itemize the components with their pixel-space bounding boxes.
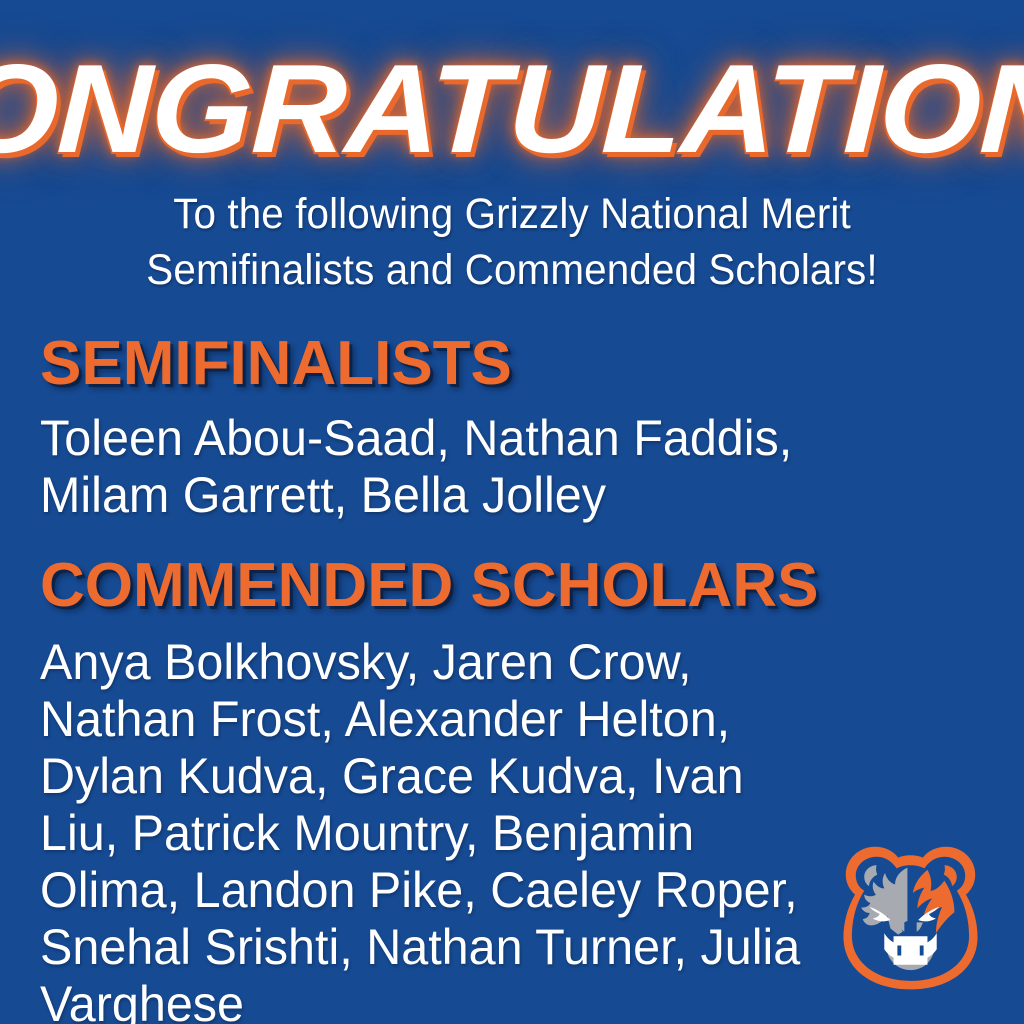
name-list-semifinalists: Toleen Abou-Saad, Nathan Faddis, Milam G… [40, 410, 894, 524]
subtitle-line-2: Semifinalists and Commended Scholars! [89, 242, 935, 298]
section-heading-semifinalists: SEMIFINALISTS [40, 330, 1000, 398]
page-title: CONGRATULATIONS [0, 46, 1024, 172]
headline-container: CONGRATULATIONS [0, 44, 1024, 174]
congratulations-poster: CONGRATULATIONS To the following Grizzly… [0, 0, 1024, 1024]
section-semifinalists: SEMIFINALISTS Toleen Abou-Saad, Nathan F… [40, 330, 1000, 524]
subtitle: To the following Grizzly National Merit … [89, 186, 935, 298]
section-heading-commended-scholars: COMMENDED SCHOLARS [40, 552, 1000, 620]
grizzly-bear-mascot-icon [833, 836, 988, 994]
name-list-commended-scholars: Anya Bolkhovsky, Jaren Crow, Nathan Fros… [40, 634, 816, 1024]
subtitle-line-1: To the following Grizzly National Merit [89, 186, 935, 242]
